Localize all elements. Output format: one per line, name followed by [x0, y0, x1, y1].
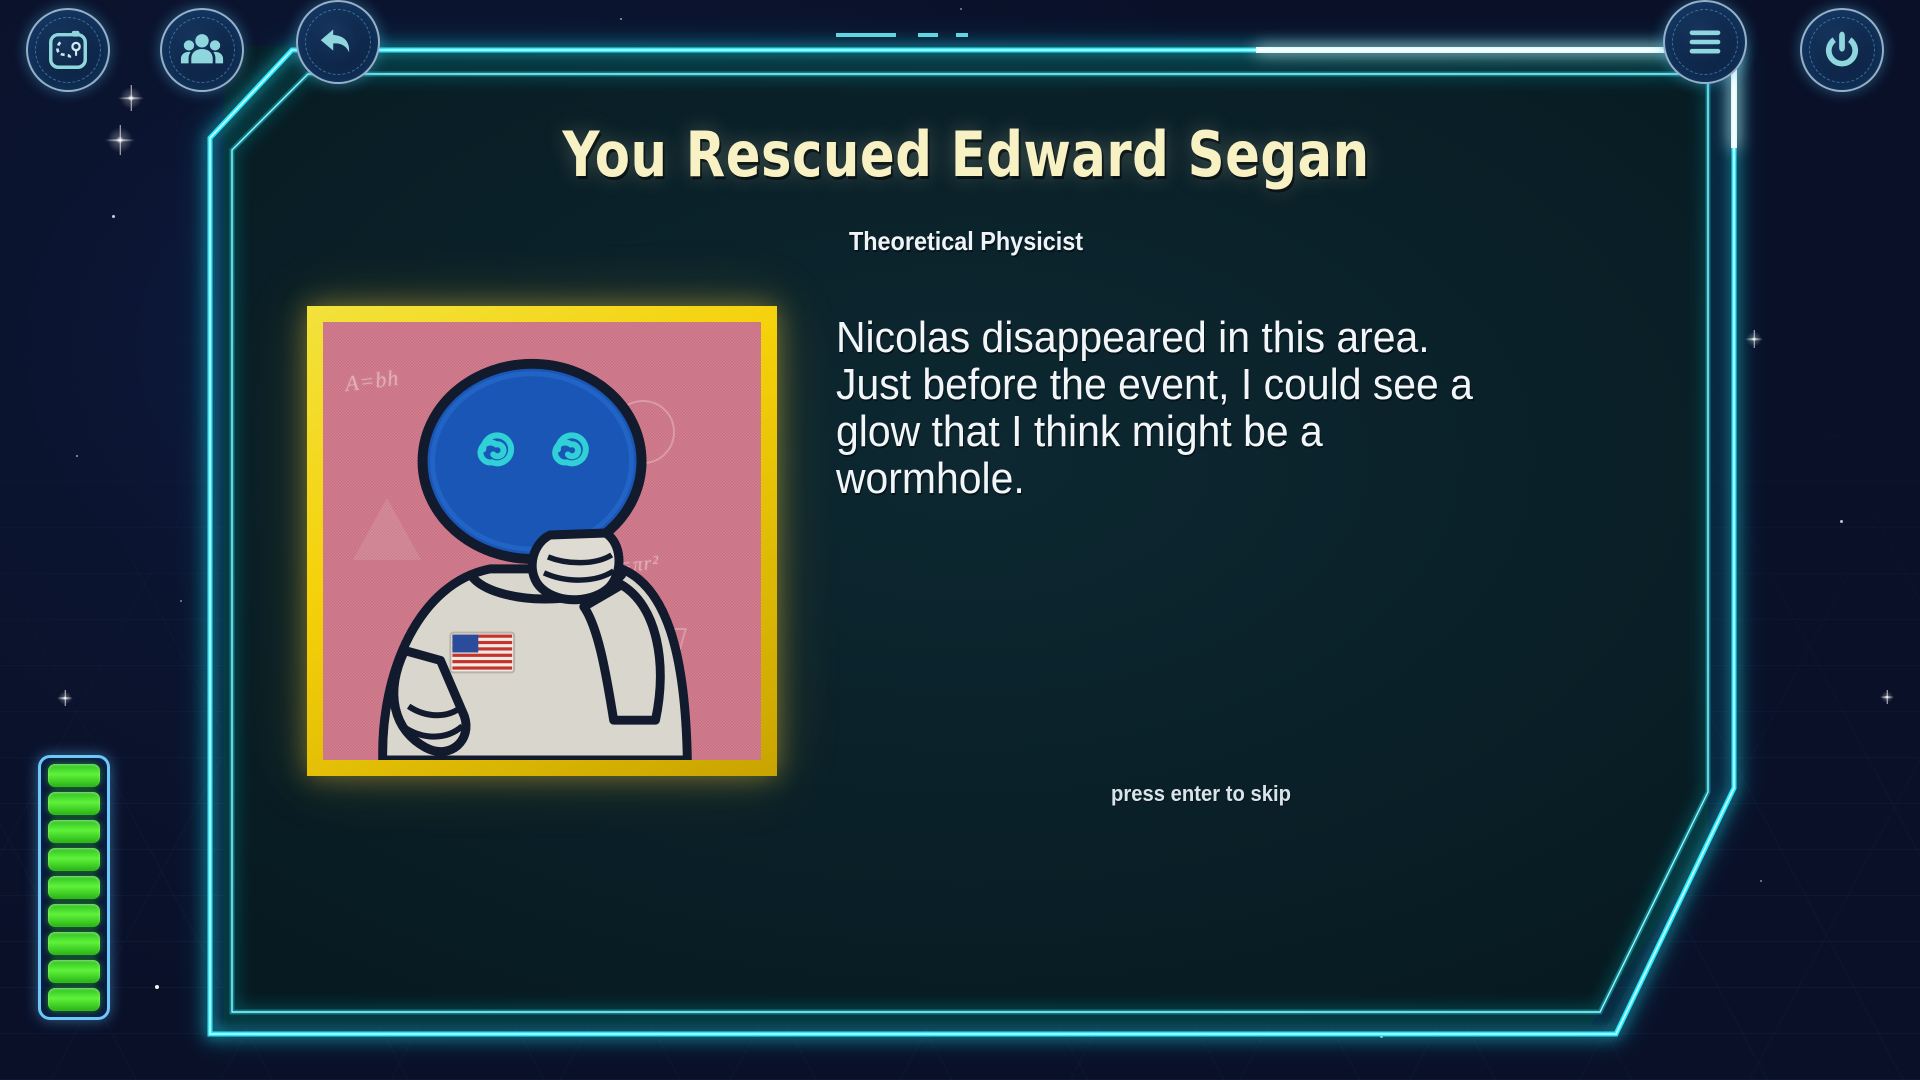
- back-icon[interactable]: [296, 0, 380, 84]
- energy-segment: [48, 960, 100, 983]
- map-icon[interactable]: [26, 8, 110, 92]
- undo-arrow-glyph: [315, 19, 361, 65]
- energy-meter[interactable]: [38, 755, 110, 1020]
- energy-segment: [48, 988, 100, 1011]
- energy-segment: [48, 792, 100, 815]
- energy-segment: [48, 876, 100, 899]
- character-portrait-frame: A=bh A=πr²: [307, 306, 777, 776]
- flag-patch: [450, 633, 514, 673]
- energy-segment: [48, 904, 100, 927]
- map-glyph: [45, 27, 91, 73]
- settings-glyph: [1682, 19, 1728, 65]
- dialogue-text: Nicolas disappeared in this area. Just b…: [836, 314, 1515, 502]
- people-glyph: [179, 27, 225, 73]
- energy-segment: [48, 820, 100, 843]
- energy-segment: [48, 848, 100, 871]
- power-glyph: [1819, 27, 1865, 73]
- energy-segment: [48, 932, 100, 955]
- crew-icon[interactable]: [160, 8, 244, 92]
- astronaut-illustration: [323, 322, 761, 760]
- page-title: You Rescued Edward Segan: [283, 118, 1648, 191]
- character-role: Theoretical Physicist: [298, 226, 1634, 257]
- character-portrait: A=bh A=πr²: [323, 322, 761, 760]
- power-icon[interactable]: [1800, 8, 1884, 92]
- extra-icon[interactable]: [1663, 0, 1747, 84]
- skip-hint[interactable]: press enter to skip: [865, 781, 1537, 807]
- energy-segment: [48, 764, 100, 787]
